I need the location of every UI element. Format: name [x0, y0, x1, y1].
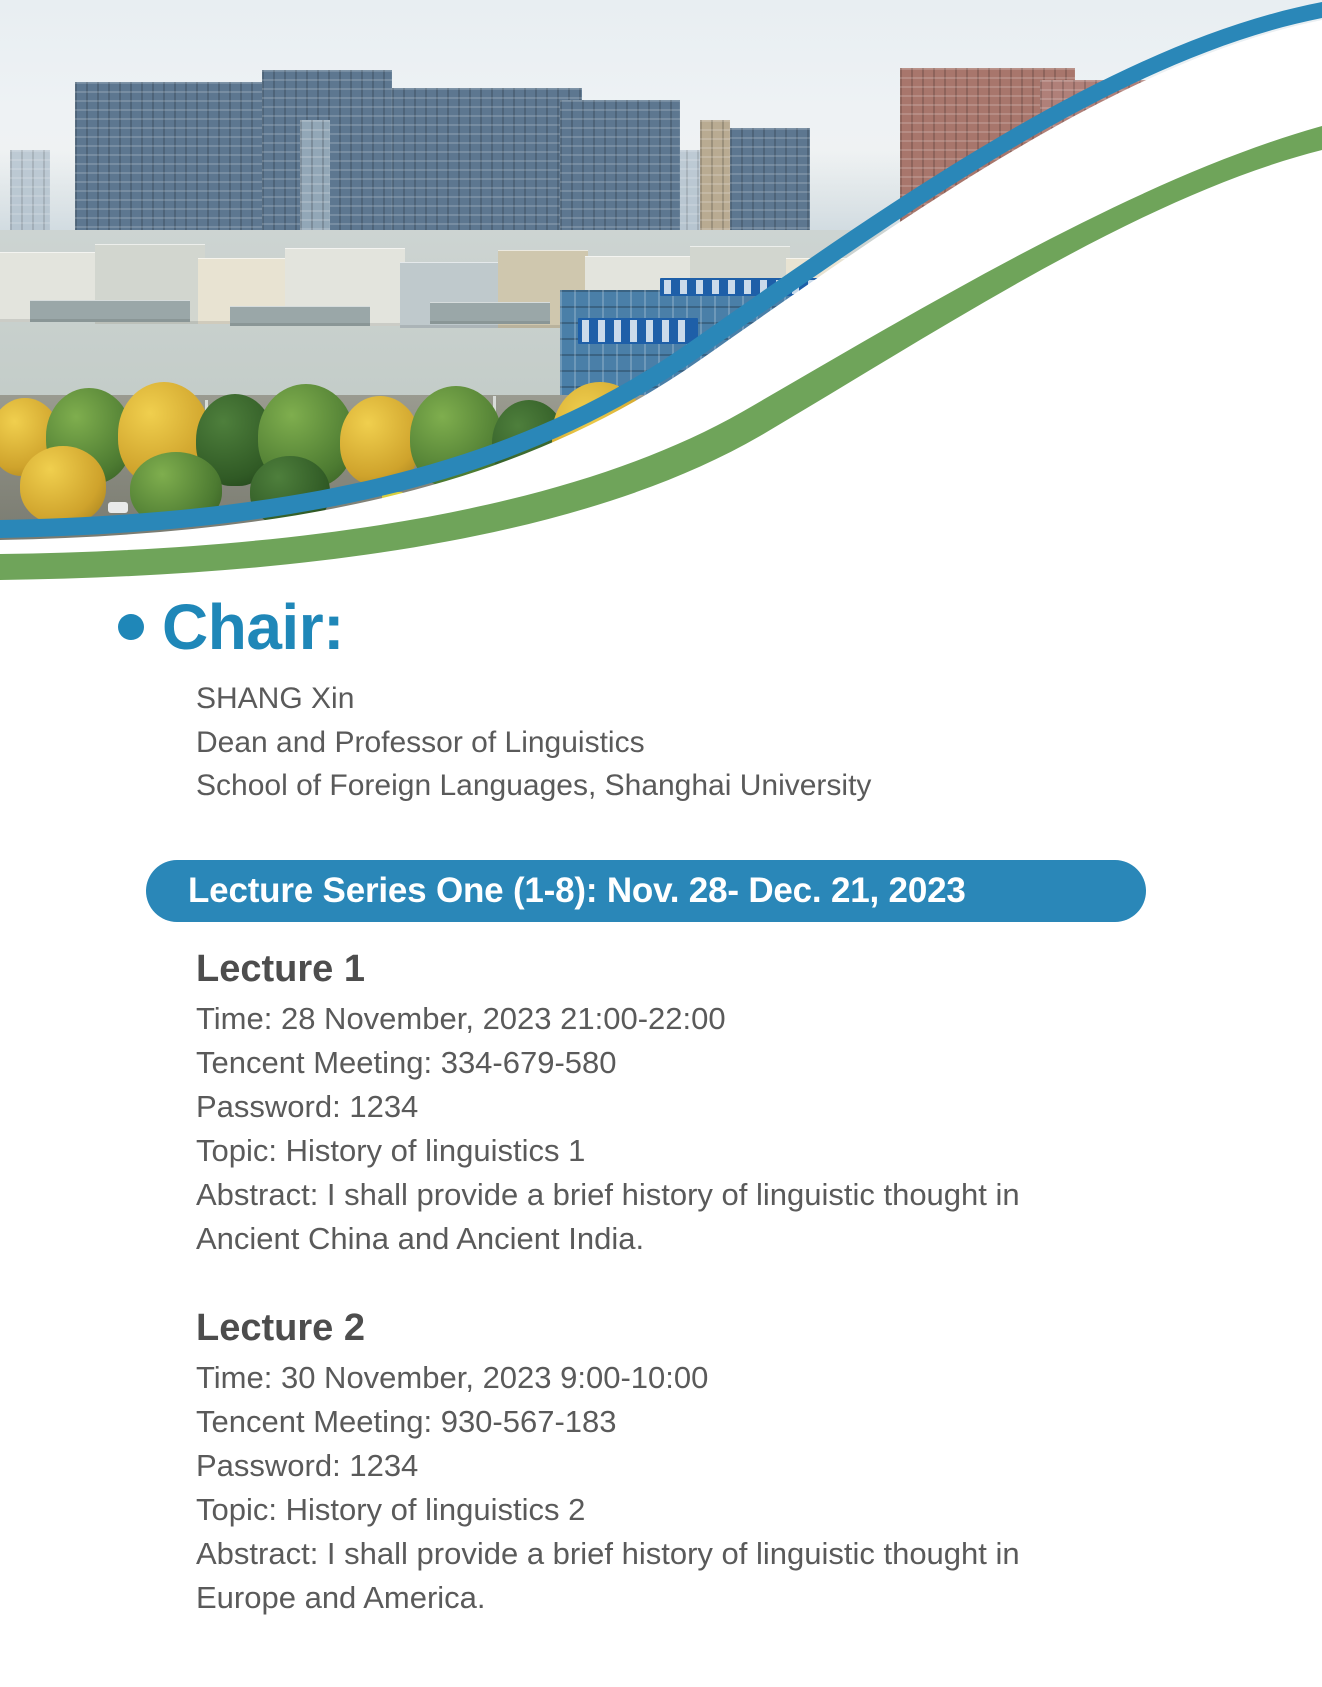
- lecture-topic: Topic: History of linguistics 2: [196, 1488, 1136, 1532]
- lecture-abstract: Abstract: I shall provide a brief histor…: [196, 1173, 1116, 1261]
- cityscape-photo: [0, 0, 1322, 540]
- lecture-title: Lecture 1: [196, 948, 1136, 991]
- header-banner: [0, 0, 1322, 580]
- chair-details: SHANG Xin Dean and Professor of Linguist…: [196, 677, 1322, 808]
- chair-heading: Chair:: [118, 595, 1322, 659]
- lecture-topic: Topic: History of linguistics 1: [196, 1129, 1136, 1173]
- content-area: Chair: SHANG Xin Dean and Professor of L…: [0, 580, 1322, 1620]
- rooftop-sign: [660, 278, 820, 296]
- lecture-password: Password: 1234: [196, 1444, 1136, 1488]
- series-banner-label: Lecture Series One (1-8): Nov. 28- Dec. …: [188, 871, 966, 911]
- lecture-entry: Lecture 1 Time: 28 November, 2023 21:00-…: [196, 948, 1136, 1261]
- lecture-password: Password: 1234: [196, 1085, 1136, 1129]
- series-banner: Lecture Series One (1-8): Nov. 28- Dec. …: [146, 860, 1146, 922]
- lecture-meeting: Tencent Meeting: 334-679-580: [196, 1041, 1136, 1085]
- chair-name: SHANG Xin: [196, 677, 1322, 721]
- chair-title: Dean and Professor of Linguistics: [196, 721, 1322, 765]
- tree-belt: [0, 360, 1322, 540]
- lecture-meeting: Tencent Meeting: 930-567-183: [196, 1400, 1136, 1444]
- lecture-entry: Lecture 2 Time: 30 November, 2023 9:00-1…: [196, 1307, 1136, 1620]
- bullet-icon: [118, 614, 144, 640]
- lecture-abstract: Abstract: I shall provide a brief histor…: [196, 1532, 1116, 1620]
- lecture-title: Lecture 2: [196, 1307, 1136, 1350]
- lecture-time: Time: 28 November, 2023 21:00-22:00: [196, 997, 1136, 1041]
- lecture-time: Time: 30 November, 2023 9:00-10:00: [196, 1356, 1136, 1400]
- facade-sign: [578, 318, 698, 344]
- chair-affiliation: School of Foreign Languages, Shanghai Un…: [196, 764, 1322, 808]
- chair-heading-label: Chair:: [162, 595, 344, 659]
